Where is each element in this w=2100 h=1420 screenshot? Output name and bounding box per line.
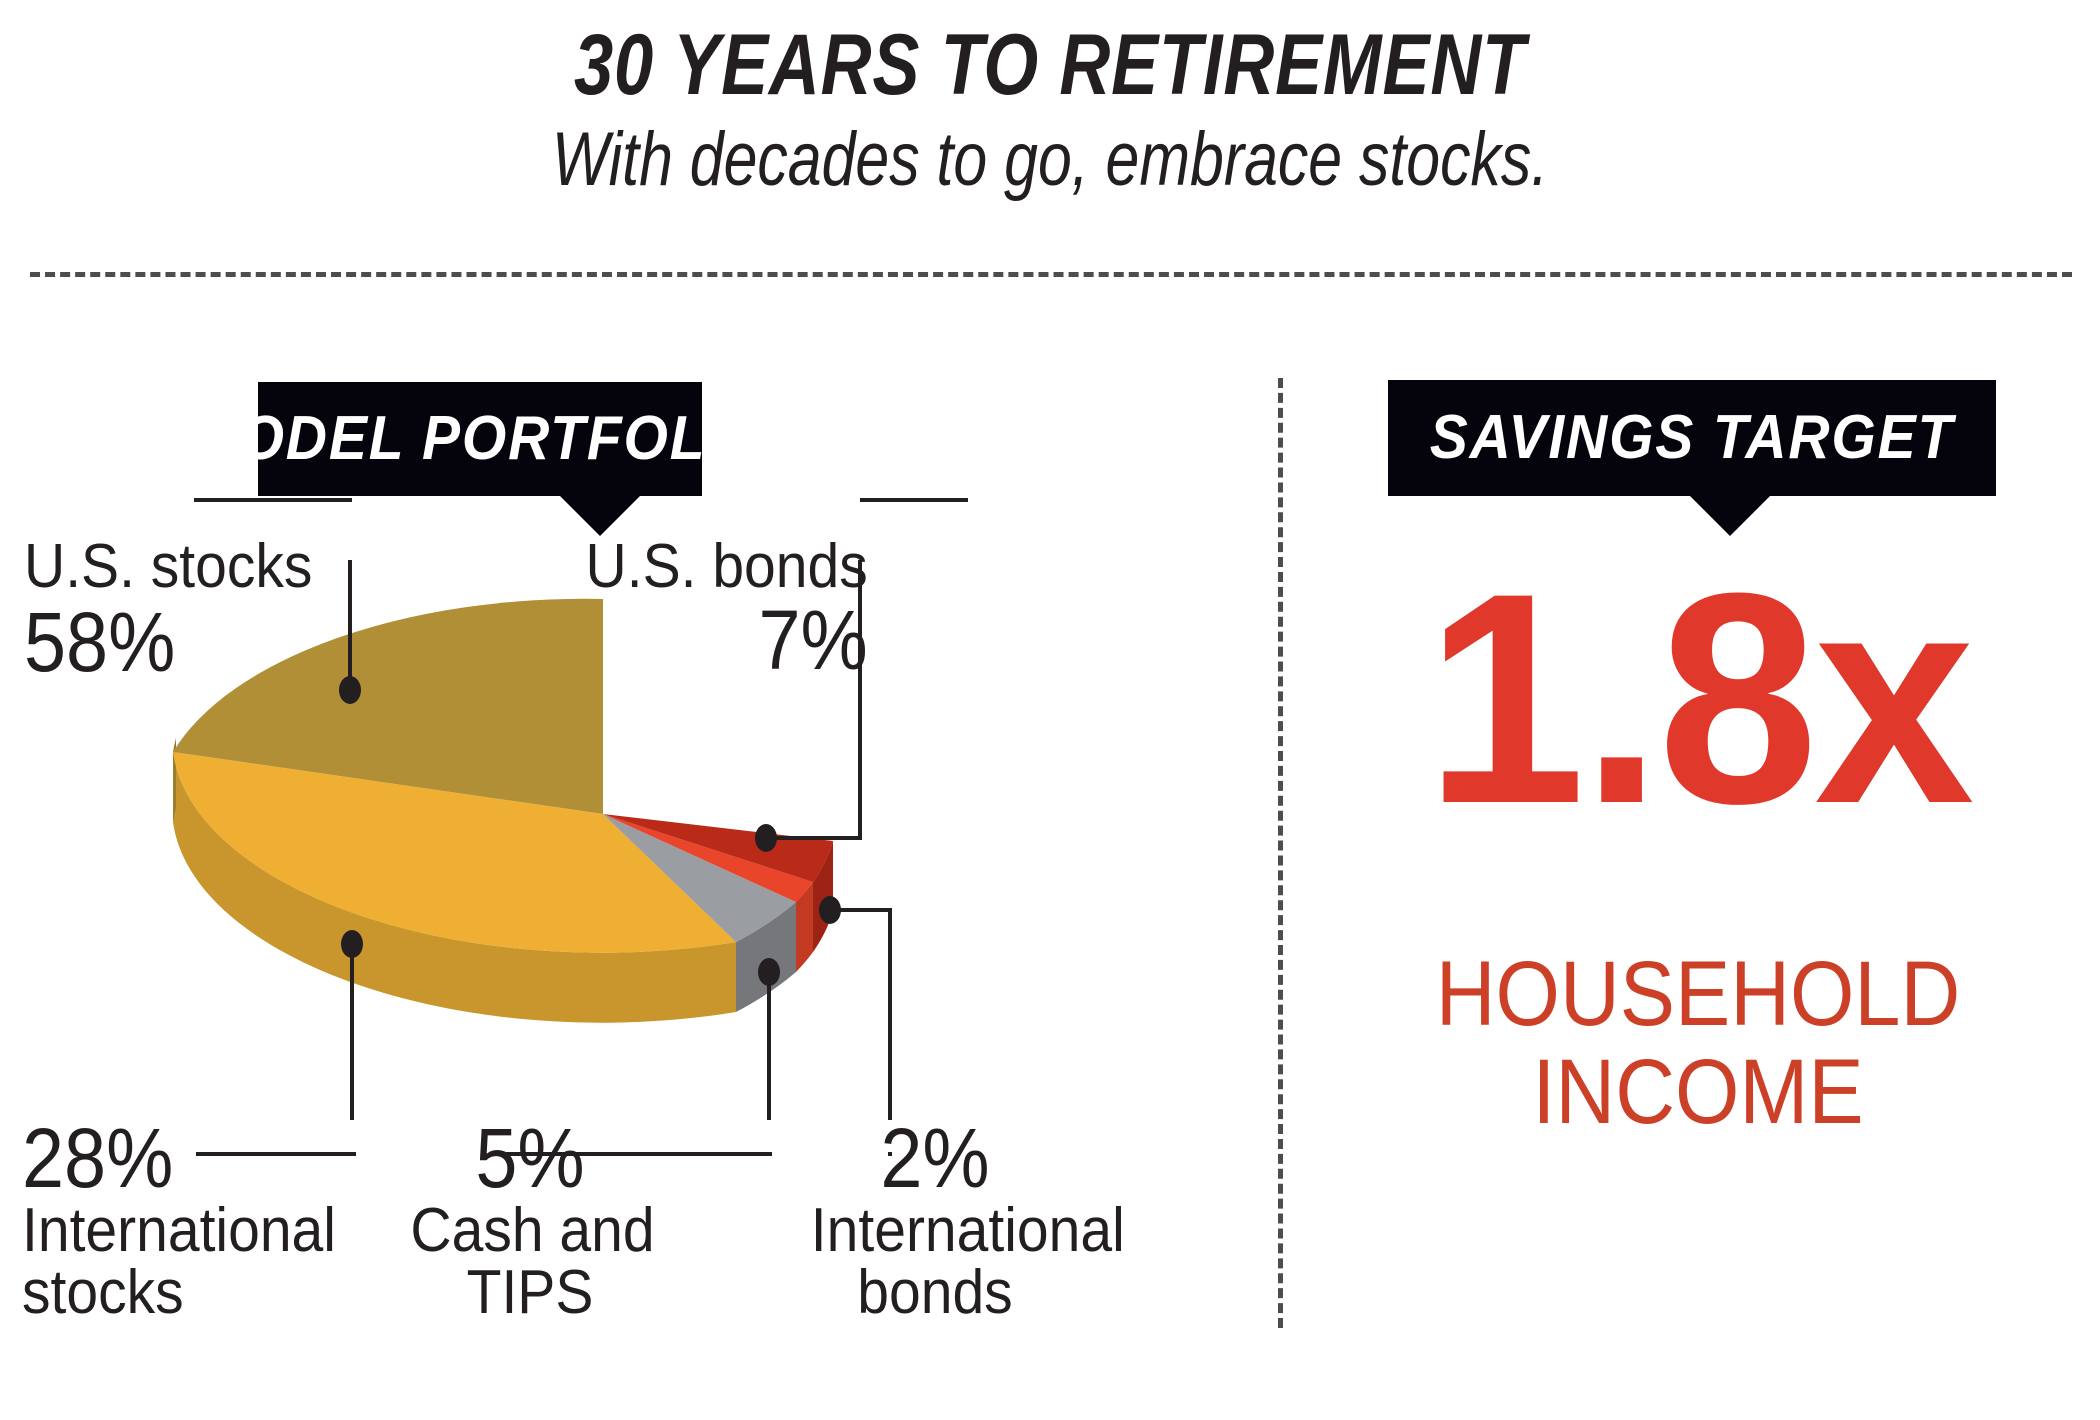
callout-us-stocks: U.S. stocks 58% xyxy=(24,536,338,684)
callout-cash-tips: 5% Cash and TIPS xyxy=(400,1116,660,1324)
callout-intl-stocks-label-line2: stocks xyxy=(22,1262,336,1324)
callout-cash-tips-label-line1: Cash and xyxy=(410,1200,649,1262)
leader-dot-cash-tips xyxy=(758,958,780,986)
callout-cash-tips-value: 5% xyxy=(413,1116,647,1200)
callout-intl-stocks-label-line1: International xyxy=(22,1200,336,1262)
savings-caption-line1: HOUSEHOLD xyxy=(1419,946,1977,1044)
savings-target-banner: SAVINGS TARGET xyxy=(1388,380,1996,496)
panel-divider xyxy=(1278,378,1283,1328)
callout-us-bonds: U.S. bonds 7% xyxy=(561,536,868,682)
callout-us-bonds-label: U.S. bonds xyxy=(586,536,868,598)
infographic-canvas: 30 YEARS TO RETIREMENT With decades to g… xyxy=(0,0,2100,1420)
model-portfolio-banner: MODEL PORTFOLIO xyxy=(258,382,702,496)
leader-stub-us-stocks xyxy=(194,498,352,502)
leader-intl-bonds xyxy=(830,910,890,1120)
callout-us-stocks-value: 58% xyxy=(24,600,306,684)
callout-us-bonds-value: 7% xyxy=(592,598,868,682)
callout-intl-stocks: 28% International stocks xyxy=(22,1116,363,1324)
header-divider xyxy=(30,272,2072,277)
savings-caption-line2: INCOME xyxy=(1419,1044,1977,1142)
savings-multiple: 1.8x xyxy=(1400,556,1995,841)
leader-stub-us-bonds xyxy=(860,498,968,502)
page-subtitle: With decades to go, embrace stocks. xyxy=(210,122,1890,198)
callout-intl-bonds-value: 2% xyxy=(814,1116,1057,1200)
callout-intl-bonds-label-line1: International xyxy=(811,1200,1059,1262)
page-title: 30 YEARS TO RETIREMENT xyxy=(189,22,1911,108)
model-portfolio-banner-label: MODEL PORTFOLIO xyxy=(190,408,770,470)
leader-dot-intl-bonds xyxy=(819,896,841,924)
callout-us-stocks-label: U.S. stocks xyxy=(24,536,312,598)
callout-cash-tips-label-line2: TIPS xyxy=(410,1262,649,1324)
callout-intl-bonds-label-line2: bonds xyxy=(811,1262,1059,1324)
savings-caption: HOUSEHOLD INCOME xyxy=(1419,946,1977,1141)
callout-intl-stocks-value: 28% xyxy=(22,1116,329,1200)
callout-intl-bonds: 2% International bonds xyxy=(800,1116,1070,1324)
banner-pointer-icon xyxy=(558,494,642,536)
leader-dot-us-stocks xyxy=(339,676,361,704)
leader-dot-intl-stocks xyxy=(341,930,363,958)
leader-dot-us-bonds xyxy=(755,824,777,852)
savings-target-banner-label: SAVINGS TARGET xyxy=(1430,407,1954,469)
header: 30 YEARS TO RETIREMENT With decades to g… xyxy=(0,0,2100,260)
